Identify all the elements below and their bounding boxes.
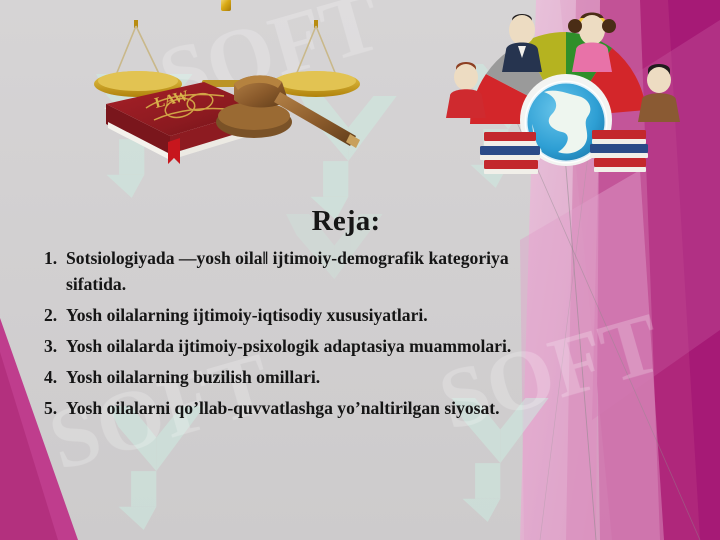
list-item-text: Yosh oilalarning ijtimoiy-iqtisodiy xusu… [66,305,428,325]
page-title: Reja: [0,205,720,238]
list-item-number: 2. [44,302,57,328]
list-item: 2. Yosh oilalarning ijtimoiy-iqtisodiy x… [44,302,704,328]
people-globe-books-illustration [440,4,690,184]
agenda-list: 1. Sotsiologiyada —yosh oila‖ ijtimoiy-d… [0,245,720,421]
list-item-number: 5. [44,395,57,421]
presentation-slide: SOFT SOFT SOFT [0,0,720,540]
list-item: 4. Yosh oilalarning buzilish omillari. [44,364,704,390]
book-stack-right [590,130,648,172]
scales-of-justice-illustration: LAW [84,0,374,191]
list-item-continuation: sifatida. [66,271,700,297]
list-item-text: Yosh oilalarni qo’llab-quvvatlashga yo’n… [66,398,500,418]
list-item-text: Yosh oilalarning buzilish omillari. [66,367,320,387]
list-item-text: Sotsiologiyada —yosh oila‖ ijtimoiy-demo… [66,245,704,298]
list-item: 3. Yosh oilalarda ijtimoiy-psixologik ad… [44,333,704,359]
person-figure [638,64,680,122]
book-stack-left [480,132,540,174]
list-item-number: 4. [44,364,57,390]
list-item-number: 1. [44,245,57,271]
list-item: 5. Yosh oilalarni qo’llab-quvvatlashga y… [44,395,704,421]
list-item-number: 3. [44,333,57,359]
list-item-line: Sotsiologiyada —yosh oila‖ ijtimoiy-demo… [66,248,509,268]
list-item: 1. Sotsiologiyada —yosh oila‖ ijtimoiy-d… [44,245,704,298]
list-item-text: Yosh oilalarda ijtimoiy-psixologik adapt… [66,336,511,356]
social-clipart-image [440,4,690,184]
law-clipart-image: LAW [84,0,374,191]
slide-content: Reja: 1. Sotsiologiyada —yosh oila‖ ijti… [0,205,720,426]
